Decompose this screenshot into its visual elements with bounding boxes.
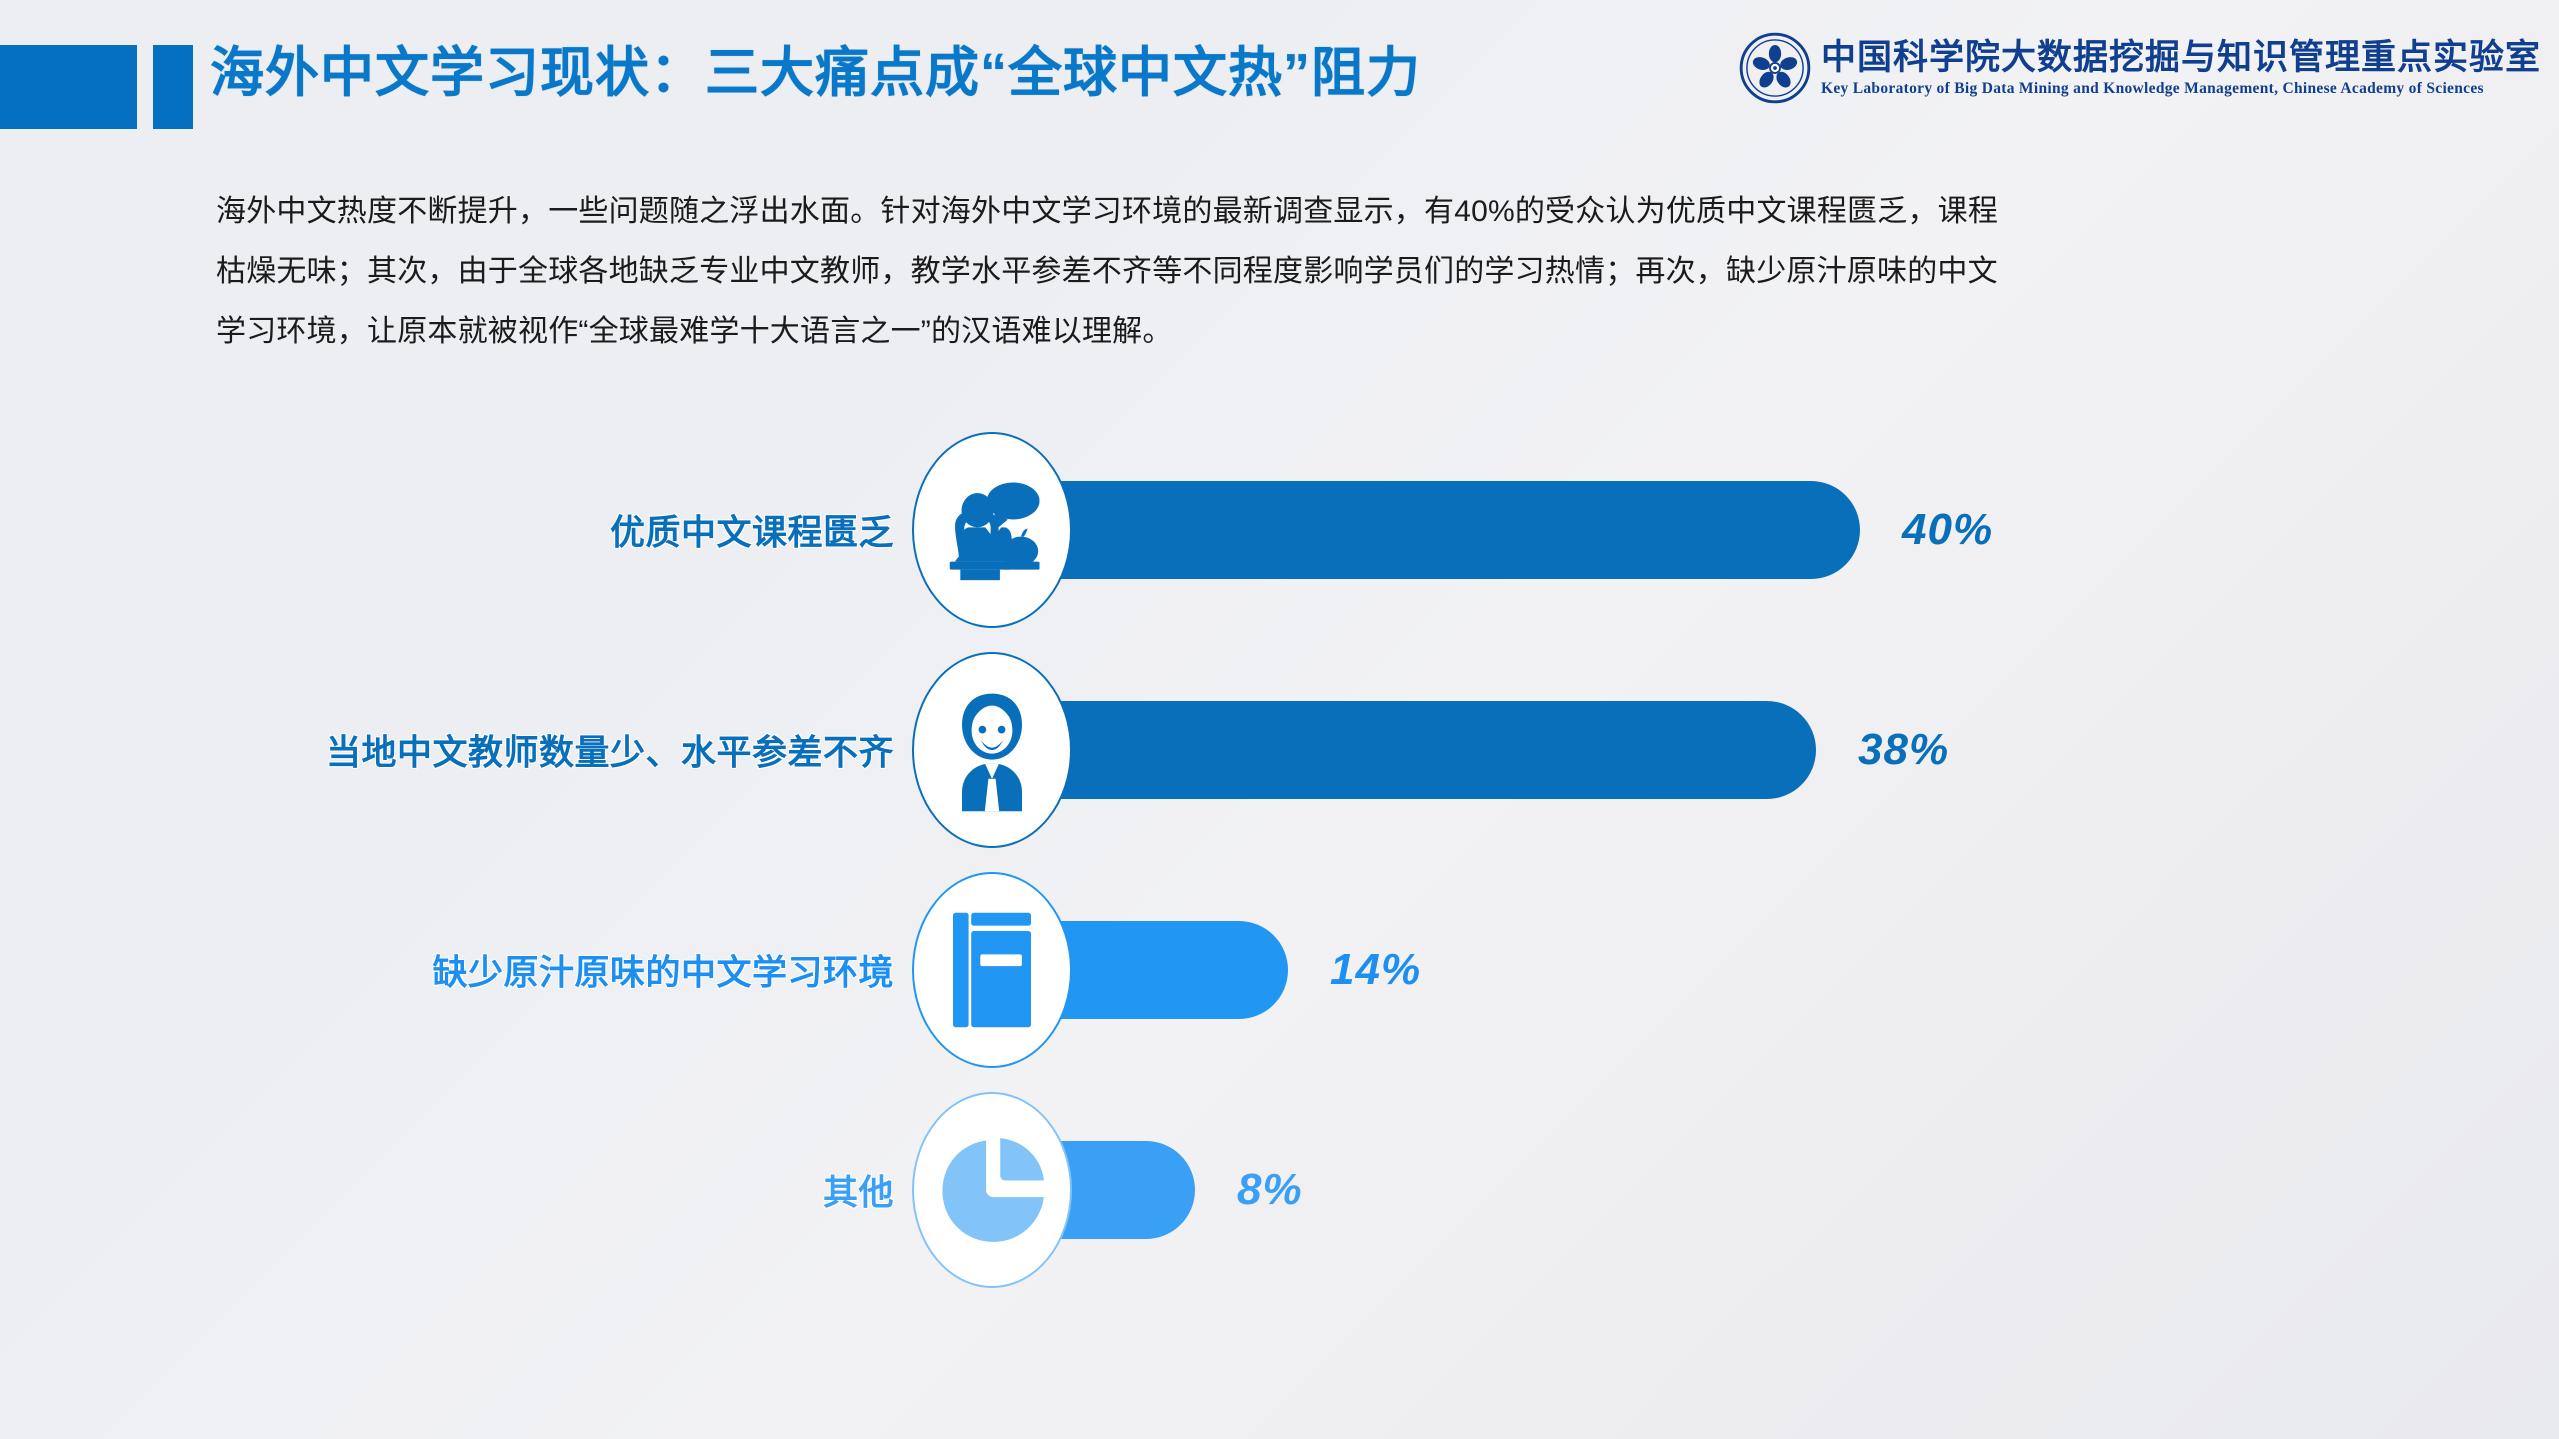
intro-line-2: 枯燥无味；其次，由于全球各地缺乏专业中文教师，教学水平参差不齐等不同程度影响学员… (216, 242, 2516, 302)
bar-icon-circle (912, 432, 1072, 628)
header-accent-block-small (153, 45, 193, 129)
intro-paragraph: 海外中文热度不断提升，一些问题随之浮出水面。针对海外中文学习环境的最新调查显示，… (216, 182, 2516, 362)
chart-row: 当地中文教师数量少、水平参差不齐 38% (0, 650, 2559, 850)
bar-icon-circle (912, 652, 1072, 848)
bar-fill (980, 701, 1816, 799)
page-header: 海外中文学习现状：三大痛点成“全球中文热”阻力 中国科学院大数据挖掘与知识管理重… (0, 0, 2559, 150)
chart-row: 其他 8% (0, 1090, 2559, 1290)
bar-value-label: 8% (1237, 1165, 1303, 1215)
logo-title-cn: 中国科学院大数据挖掘与知识管理重点实验室 (1821, 37, 2541, 79)
intro-line-1: 海外中文热度不断提升，一些问题随之浮出水面。针对海外中文学习环境的最新调查显示，… (216, 182, 2516, 242)
teacher-speech-bubble-icon (926, 464, 1058, 596)
bar-category-label: 当地中文教师数量少、水平参差不齐 (326, 725, 894, 776)
bar-category-label: 其他 (823, 1165, 894, 1216)
bar-icon-circle (912, 872, 1072, 1068)
intro-line-3: 学习环境，让原本就被视作“全球最难学十大语言之一”的汉语难以理解。 (216, 302, 2516, 362)
logo-text-block: 中国科学院大数据挖掘与知识管理重点实验室 Key Laboratory of B… (1821, 37, 2541, 99)
bar-fill (980, 481, 1860, 579)
bar-icon-circle (912, 1092, 1072, 1288)
bar-value-label: 38% (1858, 725, 1949, 775)
logo-title-en: Key Laboratory of Big Data Mining and Kn… (1821, 79, 2541, 99)
lab-logo: 中国科学院大数据挖掘与知识管理重点实验室 Key Laboratory of B… (1739, 32, 2541, 104)
bar-value-label: 14% (1330, 945, 1421, 995)
pie-chart-icon (933, 1131, 1051, 1249)
female-teacher-icon (932, 684, 1052, 816)
page-title: 海外中文学习现状：三大痛点成“全球中文热”阻力 (210, 38, 1421, 108)
bar-value-label: 40% (1902, 505, 1993, 555)
chart-row: 优质中文课程匮乏 (0, 430, 2559, 630)
bar-category-label: 缺少原汁原味的中文学习环境 (432, 945, 894, 996)
cas-flower-emblem-icon (1739, 32, 1811, 104)
bar-category-label: 优质中文课程匮乏 (610, 505, 894, 556)
header-accent-block-large (0, 45, 137, 129)
horizontal-bar-chart: 优质中文课程匮乏 (0, 430, 2559, 1330)
book-icon (940, 905, 1044, 1035)
chart-row: 缺少原汁原味的中文学习环境 14% (0, 870, 2559, 1070)
